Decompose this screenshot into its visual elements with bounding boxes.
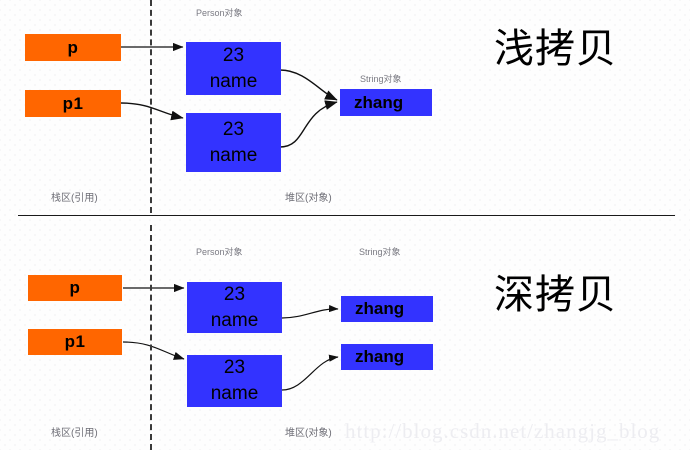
string-object-2-bottom: zhang bbox=[341, 344, 433, 370]
diagram-canvas: Person对象 String对象 p p1 23 name 23 name z… bbox=[0, 0, 690, 450]
arrow-deep-person2-to-string2 bbox=[282, 357, 338, 390]
stack-heap-divider-top bbox=[150, 0, 152, 213]
section-divider bbox=[18, 215, 675, 216]
zone-label-heap-bottom: 堆区(对象) bbox=[285, 424, 332, 439]
person-name-field: name bbox=[211, 309, 259, 333]
caption-string-bottom: String对象 bbox=[359, 245, 401, 258]
stack-ref-p1-top: p1 bbox=[25, 90, 121, 117]
person-object-2-bottom: 23 name bbox=[187, 355, 282, 407]
stack-ref-p1-bottom: p1 bbox=[28, 329, 122, 355]
string-object-1-top: zhang bbox=[340, 89, 432, 116]
caption-person-top: Person对象 bbox=[196, 6, 243, 19]
person-name-field: name bbox=[210, 70, 258, 94]
person-name-field: name bbox=[210, 144, 258, 168]
stack-heap-divider-bottom bbox=[150, 225, 152, 450]
stack-ref-p-top: p bbox=[25, 34, 121, 61]
arrow-p1-to-person2 bbox=[121, 103, 183, 118]
person-age-value: 23 bbox=[224, 356, 245, 380]
zone-label-heap-top: 堆区(对象) bbox=[285, 189, 332, 204]
zone-label-stack-bottom: 栈区(引用) bbox=[51, 424, 98, 439]
watermark-url: http://blog.csdn.net/zhangjg_blog bbox=[345, 419, 660, 444]
person-age-value: 23 bbox=[223, 44, 244, 68]
arrow-person2-to-string bbox=[280, 102, 337, 147]
string-object-1-bottom: zhang bbox=[341, 296, 433, 322]
person-age-value: 23 bbox=[224, 283, 245, 307]
caption-person-bottom: Person对象 bbox=[196, 245, 243, 258]
section-title-shallow: 浅拷贝 bbox=[494, 16, 617, 74]
person-object-1-bottom: 23 name bbox=[187, 282, 282, 333]
person-object-2-top: 23 name bbox=[186, 113, 281, 172]
person-age-value: 23 bbox=[223, 118, 244, 142]
section-title-deep: 深拷贝 bbox=[494, 262, 617, 320]
arrow-person1-to-string bbox=[280, 70, 337, 100]
arrow-deep-p1-to-person2 bbox=[123, 342, 184, 359]
zone-label-stack-top: 栈区(引用) bbox=[51, 189, 98, 204]
person-object-1-top: 23 name bbox=[186, 42, 281, 95]
stack-ref-p-bottom: p bbox=[28, 275, 122, 301]
arrow-deep-person1-to-string1 bbox=[282, 309, 338, 318]
person-name-field: name bbox=[211, 382, 259, 406]
caption-string-top: String对象 bbox=[360, 72, 402, 85]
